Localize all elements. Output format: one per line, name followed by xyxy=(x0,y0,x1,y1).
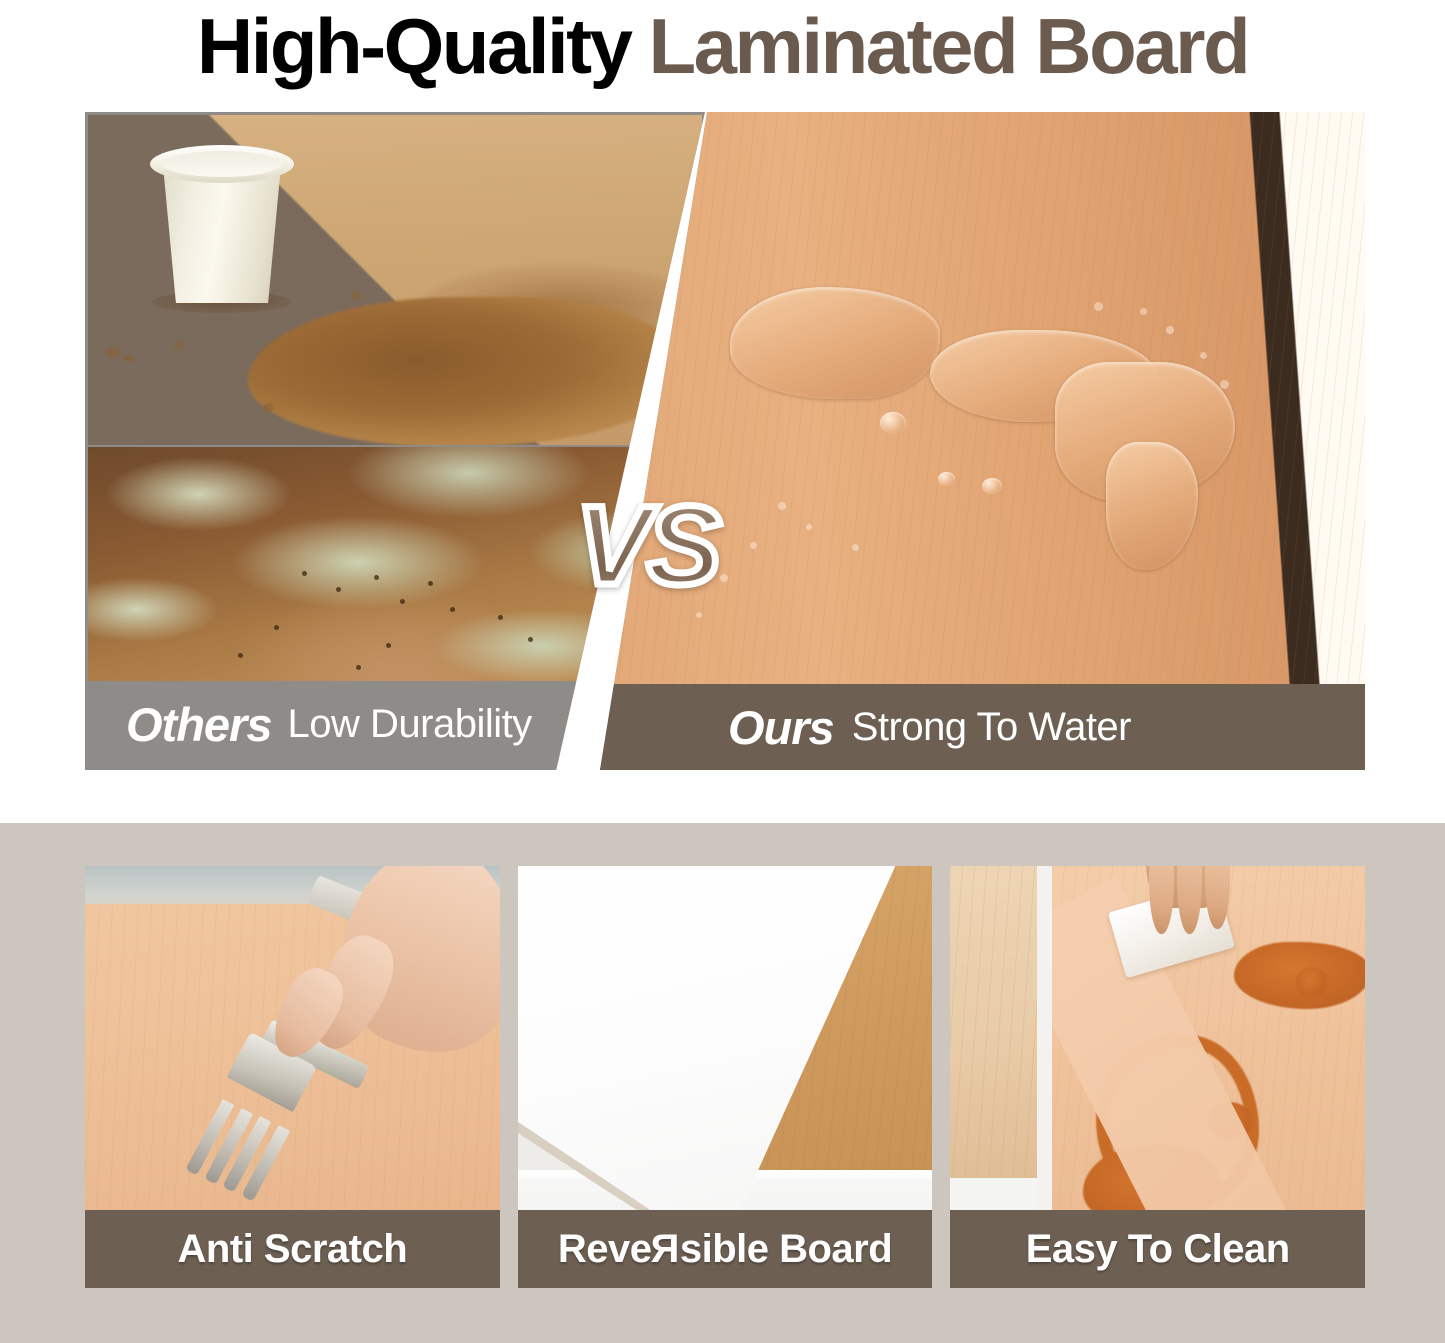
ours-label-band: Ours Strong To Water xyxy=(600,684,1365,770)
title-part-highquality: High-Quality xyxy=(197,7,631,85)
cup-rim-inner xyxy=(162,151,282,177)
feature-label-reversible-board: ReveRsible Board xyxy=(558,1227,892,1272)
others-panel: Others Low Durability xyxy=(85,112,705,770)
water-droplet xyxy=(880,412,906,434)
feature-label-band: Easy To Clean xyxy=(950,1210,1365,1288)
coffee-cup-spill-photo xyxy=(88,115,702,445)
sauce-blob xyxy=(1296,967,1327,997)
spill-droplet xyxy=(263,403,274,412)
water-droplet xyxy=(982,478,1002,494)
water-blob xyxy=(730,287,940,399)
spill-droplet xyxy=(106,347,120,358)
spill-droplet xyxy=(174,341,184,349)
others-badge: Others xyxy=(126,697,272,752)
feature-label-easy-to-clean: Easy To Clean xyxy=(1026,1227,1290,1272)
feature-card-reversible-board: ReveRsible Board xyxy=(518,866,933,1288)
spill-pool xyxy=(248,297,688,445)
features-grid: Anti Scratch ReveRsible Board xyxy=(85,866,1365,1288)
title-part-laminatedboard: Laminated Board xyxy=(649,7,1249,85)
feature-label-anti-scratch: Anti Scratch xyxy=(178,1227,408,1272)
water-droplet xyxy=(938,472,955,486)
water-beading-photo xyxy=(600,112,1365,706)
feature-label-band: Anti Scratch xyxy=(85,1210,500,1288)
feature-card-easy-to-clean: Easy To Clean xyxy=(950,866,1365,1288)
ours-badge: Ours xyxy=(728,700,834,755)
features-section: Anti Scratch ReveRsible Board xyxy=(0,823,1445,1343)
others-caption: Low Durability xyxy=(288,702,532,747)
mirrored-r-glyph: R xyxy=(651,1227,679,1272)
others-panel-inner: Others Low Durability xyxy=(88,115,702,767)
vs-badge: VS xyxy=(576,490,717,602)
ours-panel: Ours Strong To Water xyxy=(600,112,1365,770)
page-title: High-Quality Laminated Board xyxy=(0,0,1445,92)
feature-label-band: ReveRsible Board xyxy=(518,1210,933,1288)
ours-caption: Strong To Water xyxy=(852,705,1131,750)
feature-card-anti-scratch: Anti Scratch xyxy=(85,866,500,1288)
spill-droplet xyxy=(124,355,133,363)
comparison-section: Others Low Durability xyxy=(0,92,1445,792)
adjacent-board xyxy=(950,866,1037,1178)
spill-droplet xyxy=(350,291,362,300)
ours-panel-inner: Ours Strong To Water xyxy=(600,112,1365,770)
